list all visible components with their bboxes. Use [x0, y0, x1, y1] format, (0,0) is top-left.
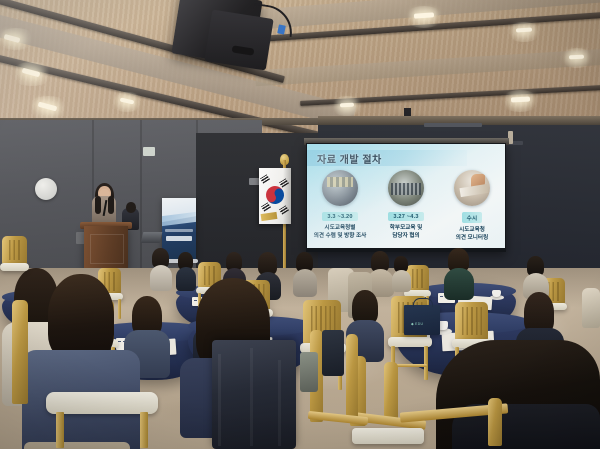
chair-leg: [118, 299, 121, 319]
bag-handle: [413, 298, 433, 307]
slide-caption-line1: 학부모교육 및: [390, 225, 422, 233]
attendee-hair: [352, 290, 378, 324]
tote-bag: [300, 352, 318, 392]
ceiling-downlight: [340, 103, 354, 108]
slide-caption-line1: 시도교육청별: [314, 225, 367, 233]
chair-spindles: [459, 307, 484, 335]
chiavari-chair-foreground[interactable]: [204, 340, 302, 449]
trigram-icon: [260, 174, 270, 183]
banner-text-line2: [166, 236, 192, 241]
ceiling-downlight: [511, 97, 530, 103]
banner-graphic: [162, 212, 196, 226]
slide-caption: 시도교육청 의견 모니터링: [456, 227, 488, 242]
chiavari-chair-foreground[interactable]: [0, 300, 46, 449]
chair-spindles: [409, 269, 426, 288]
attendee-torso: [444, 268, 474, 300]
ceiling-downlight: [569, 55, 584, 60]
slide-step-2: 3.27 ~4.3 학부모교육 및 담당자 협의: [373, 170, 439, 246]
jacket-fold: [250, 348, 253, 446]
wall-clock: [35, 178, 57, 200]
banner-text-line1: [165, 229, 193, 232]
korean-national-flag: [259, 168, 291, 224]
slide-surface: 자료 개발 절차 3.3 ~3.20 시도교육청별 의견 수렴 및 방향 조사 …: [307, 144, 505, 248]
slide-caption: 학부모교육 및 담당자 협의: [390, 225, 422, 240]
attendee-torso: [150, 265, 172, 291]
slide-step-3: 수시 시도교육청 의견 모니터링: [439, 170, 505, 246]
ceiling-air-vent: [424, 123, 482, 127]
slide-date-badge: 3.27 ~4.3: [388, 212, 423, 221]
laptop-screen: [141, 232, 163, 243]
slide-photo-circle-icon: [454, 170, 490, 206]
attendee-torso: [392, 270, 411, 292]
exit-sign: [143, 147, 155, 156]
speaker-hair-left: [95, 196, 101, 214]
chair-back-post: [12, 300, 28, 404]
photo-canvas: 자료 개발 절차 3.3 ~3.20 시도교육청별 의견 수렴 및 방향 조사 …: [0, 0, 600, 449]
slide-title: 자료 개발 절차: [317, 151, 382, 166]
jacket-fold: [278, 360, 281, 446]
slide-caption-line2: 의견 모니터링: [456, 235, 488, 243]
chair-leg: [140, 412, 148, 448]
jacket-fold: [218, 354, 221, 446]
chair-back-post: [384, 362, 398, 424]
slide-caption: 시도교육청별 의견 수렴 및 방향 조사: [314, 225, 367, 240]
flag-fringe: [261, 212, 278, 221]
projection-screen: 자료 개발 절차 3.3 ~3.20 시도교육청별 의견 수렴 및 방향 조사 …: [306, 143, 506, 252]
bag-logo: ◆ EDU: [411, 322, 423, 326]
podium: [84, 226, 128, 270]
draped-coat: [582, 288, 600, 328]
chair-spindles: [6, 240, 23, 260]
attendee-hair: [48, 274, 114, 360]
chiavari-chair[interactable]: [0, 236, 30, 290]
chiavari-chair-foreground[interactable]: [400, 398, 520, 449]
staff-member-head: [126, 202, 136, 213]
slide-photo-circle-icon: [388, 170, 424, 206]
coffee-cup: [492, 290, 501, 297]
slide-caption-line1: 시도교육청: [456, 227, 488, 235]
draped-leather-jacket: [212, 340, 296, 449]
chair-back-post: [488, 398, 502, 446]
chair-seat: [0, 263, 29, 271]
podium-front-panel: [90, 234, 124, 264]
slide-columns: 3.3 ~3.20 시도교육청별 의견 수렴 및 방향 조사 3.27 ~4.3…: [307, 170, 505, 246]
shopping-bag[interactable]: ◆ EDU: [404, 305, 440, 335]
flag-fold-shadow: [283, 168, 291, 224]
slide-date-badge: 수시: [462, 212, 483, 223]
chair-leg: [56, 412, 64, 448]
slide-step-1: 3.3 ~3.20 시도교육청별 의견 수렴 및 방향 조사: [307, 170, 373, 246]
slide-caption-line2: 담당자 협의: [390, 233, 422, 241]
slide-caption-line2: 의견 수렴 및 방향 조사: [314, 233, 367, 241]
chair-back-post: [346, 334, 358, 420]
chiavari-chair-foreground[interactable]: [46, 392, 166, 449]
chair-top-rail: [308, 411, 369, 425]
slide-date-badge: 3.3 ~3.20: [322, 212, 357, 221]
slide-photo-circle-icon: [322, 170, 358, 206]
speaker-hair-right: [108, 196, 114, 214]
attendee-torso: [176, 267, 196, 291]
umbrella-bag: [322, 330, 344, 376]
chair-seat: [46, 392, 158, 414]
attendee-torso: [293, 269, 317, 297]
